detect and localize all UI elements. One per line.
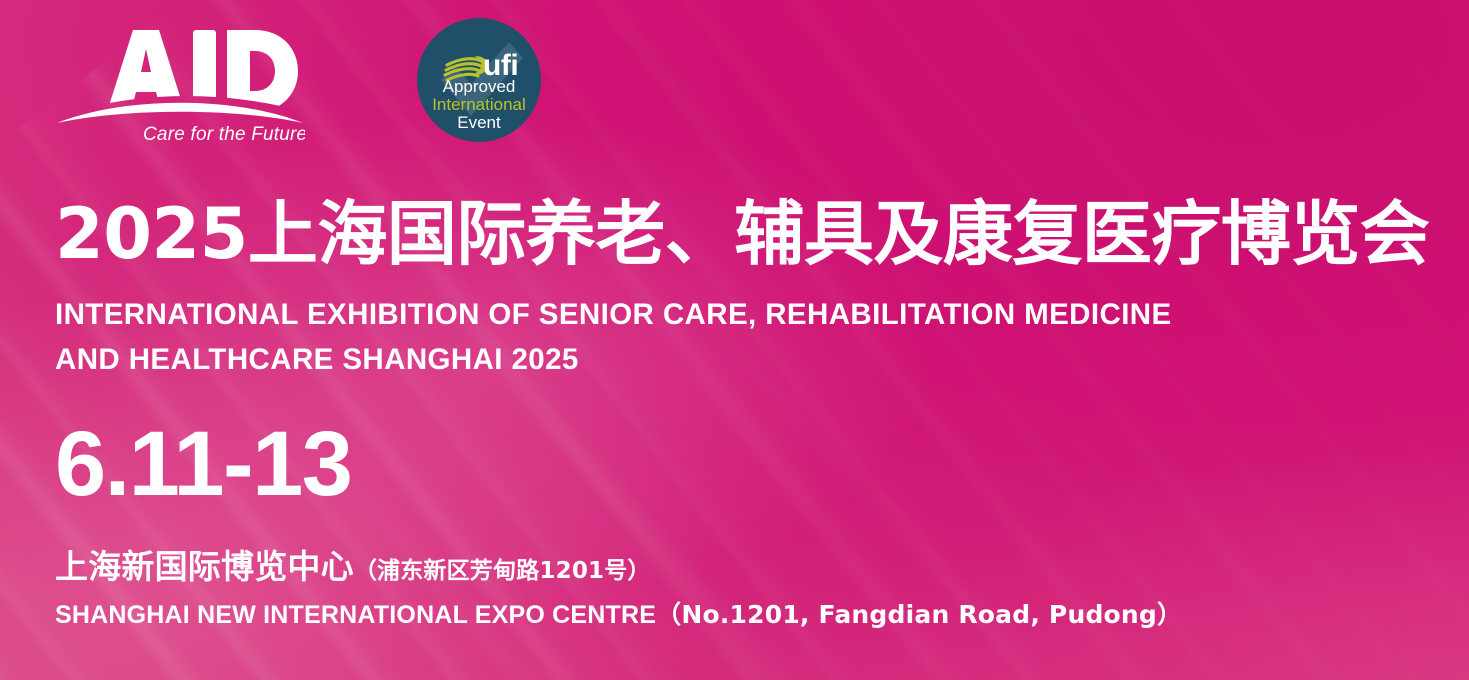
title-chinese: 2025上海国际养老、辅具及康复医疗博览会 — [55, 198, 1429, 271]
exhibition-banner: Care for the Future ufi App — [0, 0, 1469, 680]
aid-logo: Care for the Future — [55, 16, 305, 141]
ufi-approved-text: Approved — [443, 77, 516, 96]
venue-chinese-address: （浦东新区芳甸路1201号） — [354, 558, 651, 584]
venue-chinese-name: 上海新国际博览中心 — [55, 547, 354, 586]
ufi-event-text: Event — [457, 113, 501, 132]
banner-content: 2025上海国际养老、辅具及康复医疗博览会 INTERNATIONAL EXHI… — [55, 198, 1429, 631]
venue-chinese: 上海新国际博览中心（浦东新区芳甸路1201号） — [55, 540, 1429, 588]
title-english: INTERNATIONAL EXHIBITION OF SENIOR CARE,… — [55, 293, 1429, 383]
ufi-international-text: International — [432, 95, 526, 114]
aid-swoosh — [57, 103, 303, 123]
venue-english-address: （No.1201, Fangdian Road, Pudong） — [656, 600, 1182, 629]
title-english-line-2: AND HEALTHCARE SHANGHAI 2025 — [55, 338, 1429, 383]
ufi-approved-badge: ufi Approved International Event — [417, 18, 541, 142]
venue-english-name: SHANGHAI NEW INTERNATIONAL EXPO CENTRE — [55, 601, 656, 629]
title-english-line-1: INTERNATIONAL EXHIBITION OF SENIOR CARE,… — [55, 293, 1429, 338]
logo-row: Care for the Future ufi App — [55, 16, 541, 142]
venue-english: SHANGHAI NEW INTERNATIONAL EXPO CENTRE（N… — [55, 595, 1429, 631]
event-date: 6.11-13 — [55, 418, 1429, 510]
aid-wordmark-shapes — [107, 30, 298, 112]
aid-tagline-text: Care for the Future — [143, 124, 305, 141]
